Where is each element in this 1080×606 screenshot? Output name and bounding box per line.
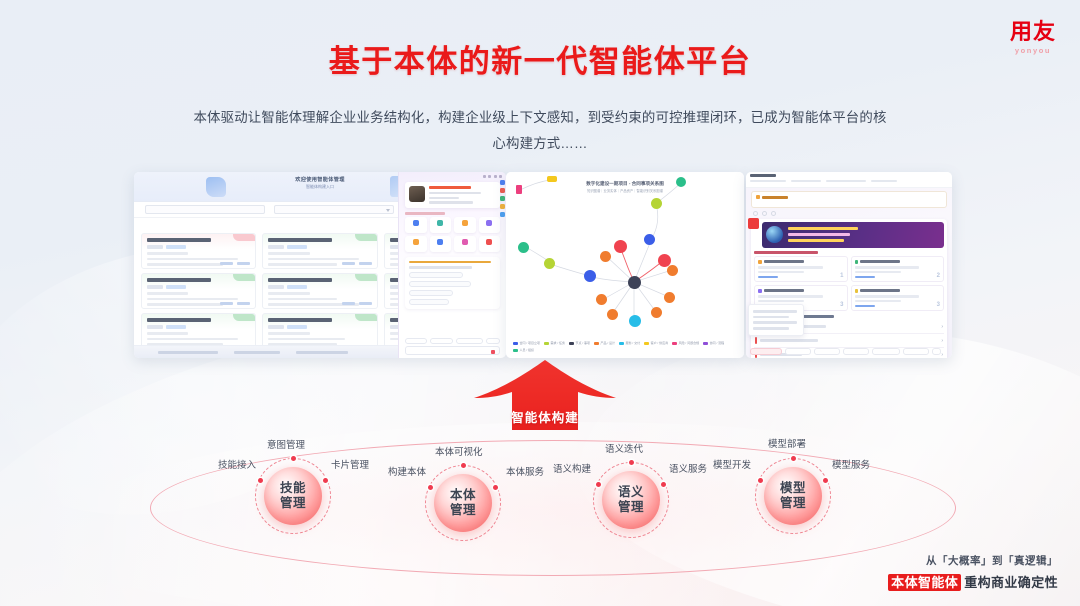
node-label-ontology-top: 本体可视化 — [435, 444, 483, 458]
card-meta-line — [147, 338, 238, 341]
rail-icon-3 — [500, 196, 505, 201]
legend-item: 需求 / 任务 — [544, 341, 565, 345]
tab — [872, 348, 900, 355]
copy-icon — [753, 211, 758, 216]
card-title — [147, 318, 211, 322]
card-tags — [268, 285, 371, 289]
legend-item: 风险 / 问题合规 — [672, 341, 699, 345]
capability-node-ontology[interactable]: 本体 管理 — [425, 465, 501, 541]
graph-node[interactable] — [629, 315, 641, 327]
tile-link[interactable] — [855, 276, 875, 279]
tile-number: 3 — [840, 302, 843, 308]
assistant-name — [429, 186, 471, 189]
card-meta-line — [268, 298, 336, 301]
footer-tagline: 从「大概率」到「真逻辑」 本体智能体重构商业确定性 — [888, 554, 1058, 592]
card-meta-line — [147, 332, 188, 335]
filter-type-select[interactable] — [274, 205, 394, 214]
agent-card[interactable] — [262, 233, 377, 269]
rail-icon-5 — [500, 212, 505, 217]
legend-item: 产品 / 设计 — [594, 341, 615, 345]
legend-label: 节点 / 事项 — [576, 341, 591, 345]
agent-card[interactable] — [141, 233, 256, 269]
build-arrow: 智能体构建 — [470, 358, 620, 430]
node-ball: 语义 管理 — [602, 471, 660, 529]
node-label-model-right: 模型服务 — [832, 457, 870, 471]
legend-item: 人员 / 组织 — [513, 348, 534, 352]
node-dot-right — [823, 478, 828, 483]
assistant-message-bubble — [405, 257, 500, 309]
graph-edges — [506, 172, 744, 332]
filter-search-input[interactable] — [145, 205, 265, 214]
filter-label-name — [140, 207, 141, 212]
answer-tile[interactable]: 1 — [754, 256, 848, 282]
assistant-shortcut-grid[interactable] — [405, 217, 500, 252]
tile-link[interactable] — [758, 276, 778, 279]
card-title — [268, 238, 332, 242]
node-dot-right — [661, 482, 666, 487]
node-label-model-top: 模型部署 — [768, 436, 806, 450]
card-status-badge — [355, 274, 377, 281]
knowledge-graph-canvas[interactable]: 数字化建设一期项目 - 合同事项关系图 知识图谱｜业务实体｜产品资产｜智能识别关… — [506, 172, 744, 358]
card-actions[interactable] — [342, 302, 372, 305]
node-dot-left — [258, 478, 263, 483]
node-ball: 模型 管理 — [764, 467, 822, 525]
card-status-badge — [233, 234, 255, 241]
legend-label: 产品 / 设计 — [601, 341, 616, 345]
graph-node[interactable] — [651, 198, 662, 209]
card-title — [147, 238, 211, 242]
card-status-badge — [355, 234, 377, 241]
card-actions[interactable] — [342, 262, 372, 265]
node-dot-top — [461, 463, 466, 468]
capability-node-semantic[interactable]: 语义 管理 — [593, 462, 669, 538]
chat-system-note — [751, 191, 947, 208]
graph-node[interactable] — [518, 242, 529, 253]
agent-card[interactable] — [141, 313, 256, 349]
legend-item: 合同 / 项目立项 — [513, 341, 540, 345]
refresh-icon — [762, 211, 767, 216]
tab — [785, 348, 811, 355]
graph-node[interactable] — [547, 176, 557, 182]
tagline-highlight: 本体智能体 — [888, 574, 961, 591]
card-meta-line — [268, 252, 309, 255]
tab — [814, 348, 840, 355]
graph-node[interactable] — [584, 270, 596, 282]
legend-swatch — [513, 342, 518, 345]
graph-node[interactable] — [644, 234, 655, 245]
tab-active — [750, 348, 782, 355]
tile-number: 3 — [937, 302, 940, 308]
shortcut-tile[interactable] — [405, 236, 427, 252]
panel-dashboard-screenshot[interactable]: 欢迎使用智能体管理 智能体构建入口 — [134, 172, 506, 358]
agent-card[interactable] — [141, 273, 256, 309]
shortcut-tile[interactable] — [479, 236, 501, 252]
node-ball: 本体 管理 — [434, 474, 492, 532]
agent-card[interactable] — [262, 273, 377, 309]
legend-label: 客户 / 供应商 — [651, 341, 669, 345]
rail-icon-1 — [500, 180, 505, 185]
card-meta-line — [147, 252, 188, 255]
followup-row[interactable]: › — [754, 334, 944, 348]
legend-swatch — [644, 342, 649, 345]
card-meta-line — [268, 263, 336, 266]
node-label-skill-right: 卡片管理 — [331, 457, 369, 471]
card-status-badge — [355, 314, 377, 321]
node-label-line2: 管理 — [618, 500, 644, 515]
graph-node[interactable] — [676, 177, 686, 187]
node-dot-right — [323, 478, 328, 483]
chat-panel-title — [750, 174, 776, 177]
menu-item — [753, 310, 797, 313]
node-dot-left — [428, 485, 433, 490]
graph-node[interactable] — [544, 258, 555, 269]
card-actions[interactable] — [220, 262, 250, 265]
rail-icon-2 — [500, 188, 505, 193]
tagline-line2: 本体智能体重构商业确定性 — [888, 573, 1058, 593]
drawer-quick-actions[interactable] — [405, 338, 500, 344]
graph-node[interactable] — [664, 292, 675, 303]
card-title — [268, 318, 332, 322]
node-label-skill-left: 技能接入 — [218, 457, 256, 471]
suggestion-chip[interactable] — [409, 290, 453, 296]
shortcut-tile[interactable] — [479, 217, 501, 233]
legend-item: 节点 / 事项 — [569, 341, 590, 345]
node-dot-right — [493, 485, 498, 490]
legend-label: 合同 / 项目立项 — [520, 341, 541, 345]
agent-card[interactable] — [262, 313, 377, 349]
legend-swatch — [513, 349, 518, 352]
panel-knowledge-graph-screenshot[interactable]: 数字化建设一期项目 - 合同事项关系图 知识图谱｜业务实体｜产品资产｜智能识别关… — [506, 172, 744, 358]
page-subtitle: 本体驱动让智能体理解企业业务结构化，构建企业级上下文感知，到受约束的可控推理闭环… — [190, 105, 890, 157]
graph-node[interactable] — [600, 251, 611, 262]
node-label-line2: 管理 — [780, 496, 806, 511]
minimize-icon — [483, 175, 486, 178]
legend-swatch — [594, 342, 599, 345]
card-meta-line — [147, 263, 223, 266]
node-label-ontology-right: 本体服务 — [506, 464, 544, 478]
legend-label: 风险 / 问题合规 — [679, 341, 700, 345]
chevron-right-icon: › — [941, 324, 943, 330]
suggestion-chip[interactable] — [409, 272, 463, 278]
tile-link[interactable] — [855, 305, 875, 308]
screenshot-panel-row: 欢迎使用智能体管理 智能体构建入口 — [134, 172, 952, 358]
suggestion-chip[interactable] — [409, 281, 471, 287]
card-tags — [147, 245, 250, 249]
graph-node[interactable] — [651, 307, 662, 318]
context-menu-popup[interactable] — [748, 304, 804, 336]
expand-icon — [488, 175, 491, 178]
legend-swatch — [569, 342, 574, 345]
answer-tile[interactable]: 3 — [851, 285, 945, 311]
card-tags — [268, 245, 371, 249]
tab — [903, 348, 929, 355]
legend-swatch — [619, 342, 624, 345]
chat-bottom-tabs[interactable] — [750, 348, 948, 355]
card-meta-line — [268, 292, 309, 295]
node-ball: 技能 管理 — [264, 467, 322, 525]
drawer-app-rail[interactable] — [499, 180, 506, 217]
legend-swatch — [544, 342, 549, 345]
shortcut-tile[interactable] — [405, 217, 427, 233]
node-label-semantic-right: 语义服务 — [669, 461, 707, 475]
node-label-ontology-left: 构建本体 — [388, 464, 426, 478]
node-label-line1: 语义 — [618, 485, 644, 500]
answer-section-title — [754, 251, 818, 254]
legend-label: 协同 / 流程 — [710, 341, 725, 345]
node-label-line2: 管理 — [450, 503, 476, 518]
chat-panel-body: 1 2 3 — [746, 188, 952, 358]
share-icon — [771, 211, 776, 216]
legend-item: 服务 / 交付 — [619, 341, 640, 345]
tile-number: 2 — [937, 273, 940, 279]
card-meta-line — [268, 258, 359, 261]
card-meta-line — [268, 332, 309, 335]
card-status-badge — [233, 314, 255, 321]
graph-node[interactable] — [516, 185, 522, 194]
node-label-model-left: 模型开发 — [713, 457, 751, 471]
menu-item — [753, 316, 789, 319]
card-title — [147, 278, 211, 282]
card-tags — [268, 325, 371, 329]
card-title — [268, 278, 332, 282]
assistant-profile-card — [405, 182, 500, 208]
avatar — [409, 186, 425, 202]
legend-item: 协同 / 流程 — [703, 341, 724, 345]
chat-answer-card: 1 2 3 — [751, 219, 947, 358]
shortcut-tile[interactable] — [454, 236, 476, 252]
graph-node[interactable] — [667, 265, 678, 276]
card-meta-line — [268, 338, 344, 341]
menu-item — [753, 327, 789, 330]
capability-node-skill[interactable]: 技能 管理 — [255, 458, 331, 534]
graph-node[interactable] — [607, 309, 618, 320]
chat-panel-header — [746, 172, 952, 188]
node-label-semantic-left: 语义构建 — [553, 461, 591, 475]
node-label-semantic-top: 语义迭代 — [605, 441, 643, 455]
legend-label: 人员 / 组织 — [520, 348, 535, 352]
shortcut-tile[interactable] — [430, 217, 452, 233]
legend-label: 需求 / 任务 — [551, 341, 566, 345]
globe-icon — [766, 226, 783, 243]
assistant-side-drawer[interactable] — [398, 172, 506, 358]
node-label-line1: 技能 — [280, 481, 306, 496]
card-meta-line — [147, 298, 238, 301]
slide-root: 用友 yonyou 基于本体的新一代智能体平台 本体驱动让智能体理解企业业务结构… — [0, 0, 1080, 606]
node-label-line1: 模型 — [780, 481, 806, 496]
arrow-label: 智能体构建 — [470, 407, 620, 426]
answer-tile[interactable]: 2 — [851, 256, 945, 282]
page-title: 基于本体的新一代智能体平台 — [0, 36, 1080, 81]
chat-input[interactable] — [405, 346, 500, 355]
graph-node[interactable] — [596, 294, 607, 305]
tab — [843, 348, 869, 355]
node-dot-left — [596, 482, 601, 487]
drawer-section-title — [405, 212, 445, 215]
graph-node-center[interactable] — [628, 276, 641, 289]
legend-swatch — [703, 342, 708, 345]
answer-hero-banner — [762, 222, 944, 248]
shortcut-tile[interactable] — [454, 217, 476, 233]
node-dot-top — [791, 456, 796, 461]
legend-label: 服务 / 交付 — [626, 341, 641, 345]
warning-icon — [756, 195, 760, 199]
close-icon — [499, 175, 502, 178]
card-meta-line — [147, 303, 223, 306]
tagline-line1: 从「大概率」到「真逻辑」 — [888, 554, 1058, 570]
legend-swatch — [672, 342, 677, 345]
tile-number: 1 — [840, 273, 843, 279]
pin-icon — [494, 175, 497, 178]
card-tags — [147, 285, 250, 289]
card-tags — [147, 325, 250, 329]
node-dot-top — [629, 460, 634, 465]
card-meta-line — [147, 292, 188, 295]
node-label-line1: 本体 — [450, 488, 476, 503]
drawer-window-controls[interactable] — [399, 172, 506, 180]
capability-node-model[interactable]: 模型 管理 — [755, 458, 831, 534]
card-actions[interactable] — [220, 302, 250, 305]
filter-label-type — [269, 207, 270, 212]
tagline-rest: 重构商业确定性 — [964, 575, 1058, 590]
rail-icon-4 — [500, 204, 505, 209]
graph-legend: 合同 / 项目立项需求 / 任务节点 / 事项产品 / 设计服务 / 交付客户 … — [513, 341, 737, 352]
graph-node-highlight[interactable] — [614, 240, 627, 253]
node-label-line2: 管理 — [280, 496, 306, 511]
card-meta-line — [147, 258, 238, 261]
node-dot-left — [758, 478, 763, 483]
node-label-skill-top: 意图管理 — [267, 437, 305, 451]
menu-item — [753, 321, 797, 324]
suggestion-chip[interactable] — [409, 299, 449, 305]
tab-more — [932, 348, 941, 355]
node-dot-top — [291, 456, 296, 461]
card-status-badge — [233, 274, 255, 281]
chevron-right-icon: › — [941, 338, 943, 344]
panel-assistant-chat-screenshot[interactable]: 1 2 3 — [746, 172, 952, 358]
shortcut-tile[interactable] — [430, 236, 452, 252]
answer-badge — [748, 218, 759, 229]
legend-item: 客户 / 供应商 — [644, 341, 668, 345]
chat-message-tools[interactable] — [753, 211, 947, 216]
